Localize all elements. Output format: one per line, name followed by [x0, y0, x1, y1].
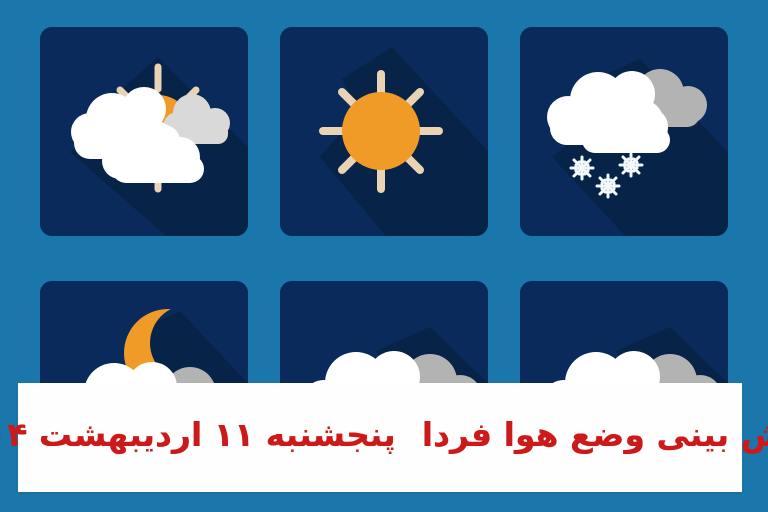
sunny-icon — [280, 27, 488, 236]
weather-tile-sunny[interactable] — [280, 27, 488, 236]
weather-tile-partly-cloudy-day[interactable] — [40, 27, 248, 236]
weather-forecast-poster: پیش بینی وضع هوا فرداپنجشنبه ۱۱ اردیبهشت… — [0, 0, 768, 512]
caption-banner: پیش بینی وضع هوا فرداپنجشنبه ۱۱ اردیبهشت… — [18, 383, 742, 492]
forecast-title: پیش بینی وضع هوا فردا — [422, 415, 768, 454]
banner-headline: پیش بینی وضع هوا فرداپنجشنبه ۱۱ اردیبهشت… — [0, 414, 768, 461]
forecast-date: پنجشنبه ۱۱ اردیبهشت ۱۴۰۴ — [0, 415, 396, 454]
partly-cloudy-day-icon — [40, 27, 248, 236]
snow-icon — [520, 27, 728, 236]
weather-tile-snow[interactable] — [520, 27, 728, 236]
